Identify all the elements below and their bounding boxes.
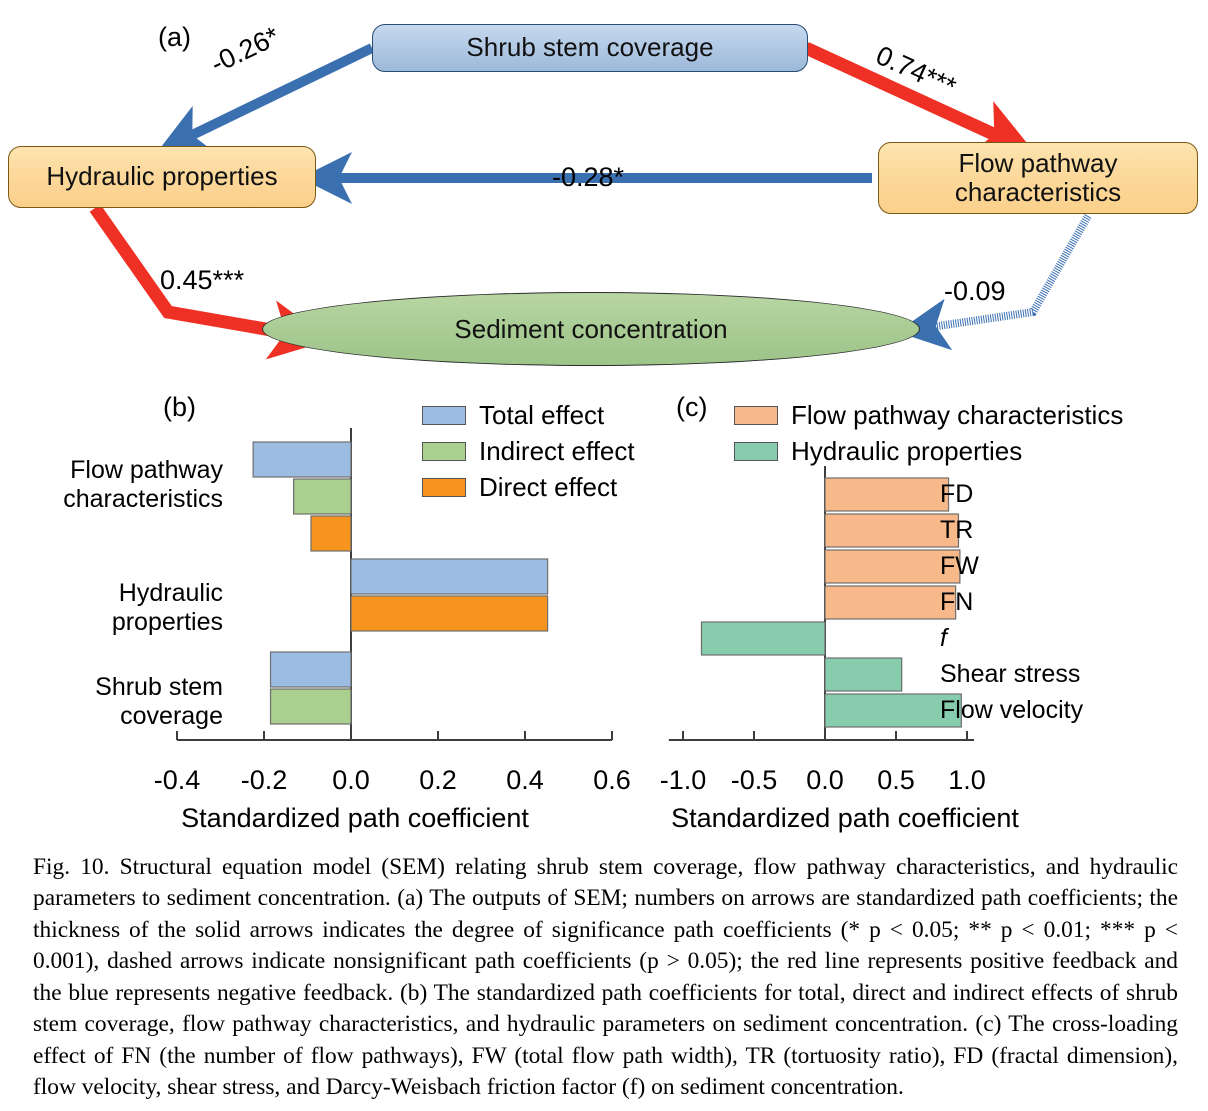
sem-node-flow-label-line2: characteristics (955, 178, 1121, 207)
panel-c-category-shear-stress: Shear stress (940, 660, 1080, 689)
legend-label-hydraulic-properties: Hydraulic properties (791, 436, 1022, 467)
panel-b-effects-barchart: (b) Total effect Indirect effect Direct … (0, 380, 640, 830)
panel-c-category-fn: FN (940, 588, 973, 617)
panel-c-category-f: f (940, 624, 947, 653)
panel-b-cat2-line2: coverage (95, 702, 223, 731)
legend-swatch-flow-pathway-characteristics (734, 406, 778, 425)
panel-b-category-hydraulic: Hydraulic properties (112, 579, 223, 637)
panel-b-category-shrub: Shrub stem coverage (95, 673, 223, 731)
edge-label-flow-to-sediment: -0.09 (944, 276, 1006, 307)
legend-label-flow-pathway-characteristics: Flow pathway characteristics (791, 400, 1123, 431)
legend-swatch-total-effect (422, 406, 466, 425)
panel-c-category-flow-velocity: Flow velocity (940, 696, 1083, 725)
panel-b-legend-item-direct: Direct effect (422, 472, 617, 503)
panel-c-legend-item-hydraulic: Hydraulic properties (734, 436, 1022, 467)
panel-a-label: (a) (158, 22, 191, 53)
figure-root: (a) Shrub stem coverage Hydraulic proper… (0, 0, 1208, 1111)
panel-b-xtick-3: 0.2 (419, 765, 457, 796)
panel-c-xtick-2: 0.0 (806, 765, 844, 796)
panel-c-legend-item-flow: Flow pathway characteristics (734, 400, 1123, 431)
panel-b-xtick-5: 0.6 (593, 765, 631, 796)
panel-c-crossloading-barchart: (c) Flow pathway characteristics Hydraul… (640, 380, 1208, 830)
panel-b-cat1-line1: Hydraulic (112, 579, 223, 608)
panel-b-xtick-0: -0.4 (154, 765, 201, 796)
panel-c-category-fw: FW (940, 552, 979, 581)
sem-node-hydraulic-properties: Hydraulic properties (8, 146, 316, 208)
panel-b-cat2-line1: Shrub stem (95, 673, 223, 702)
panel-b-xtick-1: -0.2 (241, 765, 288, 796)
panel-b-category-flow-pathway: Flow pathway characteristics (63, 456, 223, 514)
legend-label-indirect-effect: Indirect effect (479, 436, 635, 467)
figure-caption: Fig. 10. Structural equation model (SEM)… (33, 852, 1178, 1104)
panel-c-category-tr: TR (940, 516, 973, 545)
sem-node-flow-pathway-characteristics: Flow pathway characteristics (878, 142, 1198, 214)
legend-swatch-direct-effect (422, 478, 466, 497)
legend-swatch-hydraulic-properties (734, 442, 778, 461)
sem-node-hydraulic-label: Hydraulic properties (46, 162, 277, 191)
panel-b-legend-item-indirect: Indirect effect (422, 436, 635, 467)
legend-label-total-effect: Total effect (479, 400, 604, 431)
sem-node-flow-label-line1: Flow pathway (959, 149, 1118, 178)
sem-node-shrub-label: Shrub stem coverage (466, 33, 713, 62)
panel-b-xtick-2: 0.0 (332, 765, 370, 796)
sem-node-sediment-label: Sediment concentration (454, 314, 727, 345)
panel-b-cat0-line1: Flow pathway (63, 456, 223, 485)
panel-c-category-fd: FD (940, 480, 973, 509)
legend-swatch-indirect-effect (422, 442, 466, 461)
panel-b-cat1-line2: properties (112, 608, 223, 637)
panel-b-xaxis-title: Standardized path coefficient (180, 803, 530, 834)
panel-b-cat0-line2: characteristics (63, 485, 223, 514)
edge-label-hydraulic-to-sediment: 0.45*** (160, 265, 244, 296)
panel-b-xtick-4: 0.4 (506, 765, 544, 796)
panel-a-sem-diagram: (a) Shrub stem coverage Hydraulic proper… (0, 0, 1208, 380)
panel-c-xtick-4: 1.0 (948, 765, 986, 796)
panel-c-xtick-0: -1.0 (660, 765, 707, 796)
legend-label-direct-effect: Direct effect (479, 472, 617, 503)
panel-c-xtick-3: 0.5 (877, 765, 915, 796)
edge-flow-to-sediment (931, 216, 1088, 327)
sem-node-shrub-stem-coverage: Shrub stem coverage (372, 24, 808, 72)
panel-b-legend-item-total: Total effect (422, 400, 604, 431)
edge-label-flow-to-hydraulic: -0.28* (552, 162, 624, 193)
panel-c-xaxis-title: Standardized path coefficient (630, 803, 1060, 834)
sem-node-sediment-concentration: Sediment concentration (262, 292, 920, 366)
panel-c-xtick-1: -0.5 (731, 765, 778, 796)
